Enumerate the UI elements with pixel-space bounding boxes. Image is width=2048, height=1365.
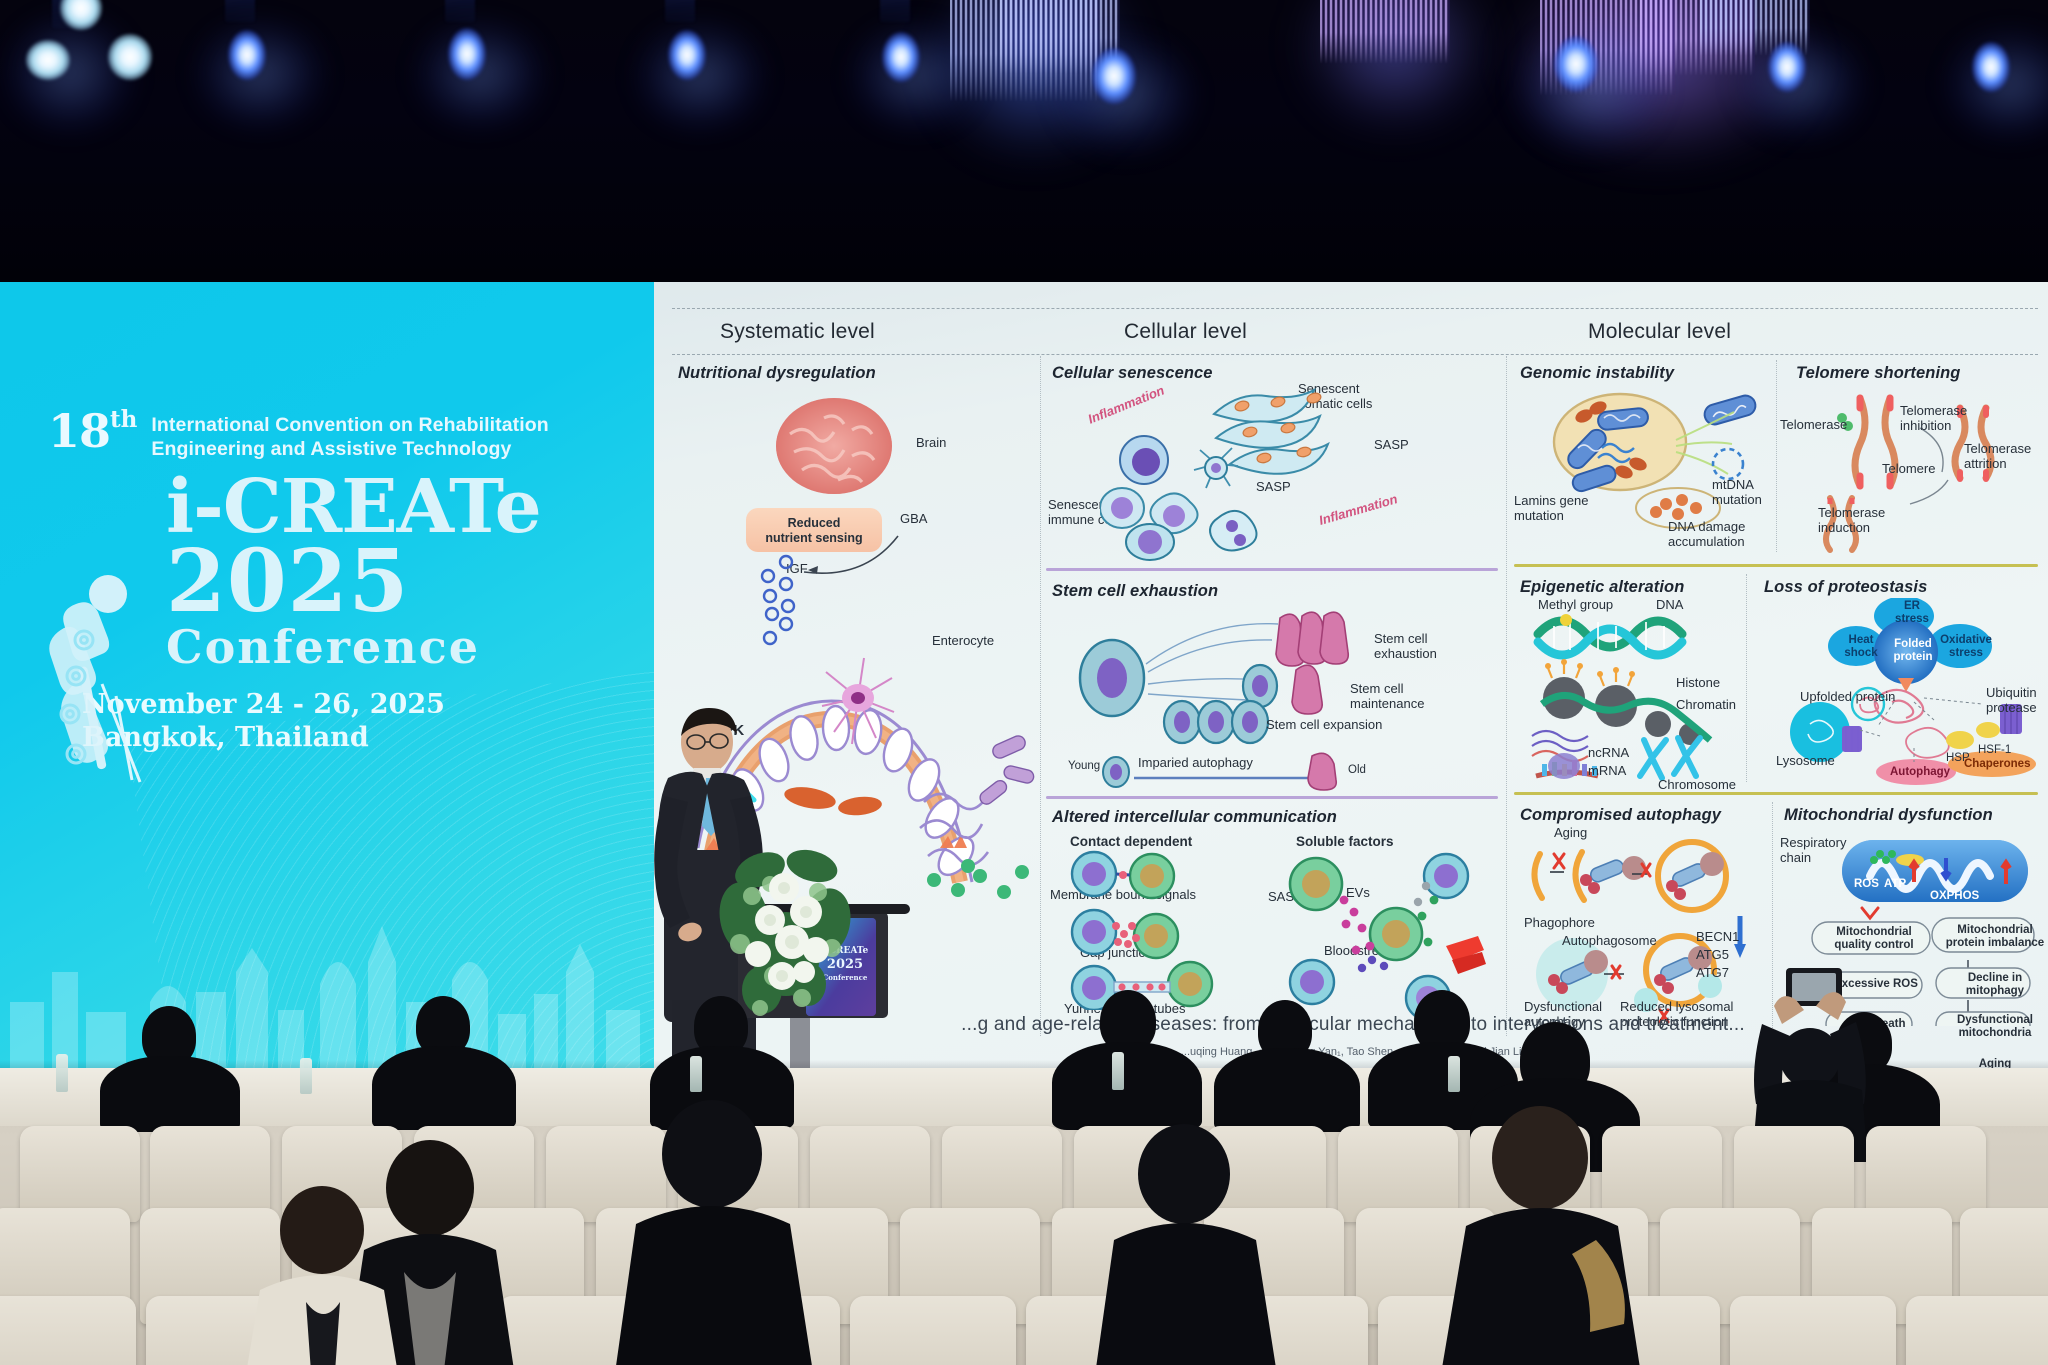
ceiling-lighting-rig: [0, 0, 2048, 282]
bangkok-skyline-icon: [0, 852, 654, 1082]
label-contact-dependent: Contact dependent: [1070, 834, 1192, 849]
panel-title-mitochondrial-dysfunction: Mitochondrial dysfunction: [1784, 806, 1993, 825]
panel-title-compromised-autophagy: Compromised autophagy: [1520, 806, 1721, 825]
column-divider-2: [1506, 356, 1507, 1036]
label-atp: ATP: [1884, 878, 1906, 891]
label-mitochondrial-protein-imbalance: Mitochondrial protein imbalance: [1934, 924, 2048, 950]
banner-subtitle-line2: Engineering and Assistive Technology: [151, 438, 548, 462]
label-becn1: BECN1: [1696, 930, 1739, 945]
senescent-immune-cells-illustration: [1100, 434, 1290, 562]
label-hsf-1: HSF-1: [1978, 744, 2011, 757]
label-chromatin: Chromatin: [1676, 698, 1736, 713]
panel-divider-molecular-2: [1514, 792, 2038, 795]
chair: [0, 1296, 136, 1365]
label-telomerase-attrition: Telomerase attrition: [1964, 442, 2031, 472]
label-inflammation-2: Inflammation: [1318, 492, 1400, 529]
panel-divider-cellular-1: [1046, 568, 1498, 571]
spotlight-7: [882, 32, 920, 82]
label-brain: Brain: [916, 436, 946, 451]
edition-number-suffix: th: [110, 406, 137, 433]
label-chaperones: Chaperones: [1964, 758, 2030, 771]
spotlight-3: [108, 34, 152, 80]
truss-bar-4: [665, 0, 695, 22]
label-respiratory-chain: Respiratory chain: [1780, 836, 1846, 866]
audience-silhouette-with-scarf: [1420, 1106, 1680, 1365]
label-heat-shock: Heat shock: [1838, 634, 1884, 660]
label-soluble-factors: Soluble factors: [1296, 834, 1394, 849]
slide-column-headers: Systematic level Cellular level Molecula…: [668, 302, 2038, 346]
audience-silhouette: [232, 1186, 412, 1365]
panel-title-nutritional-dysregulation: Nutritional dysregulation: [678, 364, 876, 383]
label-stem-cell-maintenance: Stem cell maintenance: [1350, 682, 1424, 712]
banner-brand: i-CREATe 2025 Conference: [166, 472, 608, 671]
panel-title-cellular-senescence: Cellular senescence: [1052, 364, 1213, 383]
truss-bar-5: [880, 0, 910, 22]
label-phagophore: Phagophore: [1524, 916, 1595, 931]
label-oxphos: OXPHOS: [1930, 890, 1979, 903]
truss-bar-3: [445, 0, 475, 22]
panel-title-altered-intercellular-communication: Altered intercellular communication: [1052, 808, 1337, 827]
podium-flower-arrangement: [700, 826, 890, 1016]
label-ubiquitin-protease: Ubiquitin protease: [1986, 686, 2037, 716]
person-with-exoskeleton-and-cane-icon: [36, 568, 156, 803]
epigenetic-alteration-illustration: [1526, 598, 1742, 784]
panel-divider-cellular-2: [1046, 796, 1498, 799]
label-mitochondrial-quality-control: Mitochondrial quality control: [1814, 926, 1934, 952]
edition-number: 18 th: [48, 410, 137, 454]
spotlight-11: [1972, 42, 2010, 92]
label-atg5: ATG5: [1696, 948, 1729, 963]
brand-line-3: Conference: [166, 623, 608, 671]
conference-banner: 18 th International Convention on Rehabi…: [0, 282, 654, 1082]
panel-title-telomere-shortening: Telomere shortening: [1796, 364, 1960, 383]
audience-silhouette: [1080, 1124, 1290, 1365]
edition-number-value: 18: [48, 410, 110, 454]
banner-location: Bangkok, Thailand: [82, 722, 608, 755]
label-autophagy: Autophagy: [1890, 766, 1950, 779]
label-telomere: Telomere: [1882, 462, 1935, 477]
label-stem-cell-expansion: Stem cell expansion: [1266, 718, 1382, 733]
spot-halo-0: [10, 18, 130, 128]
banner-subtitle-line1: International Convention on Rehabilitati…: [151, 414, 548, 438]
light-curtain-3: [1320, 0, 1450, 64]
column-header-systematic: Systematic level: [720, 320, 875, 344]
label-gba: GBA: [900, 512, 927, 527]
label-telomerase-inhibition: Telomerase inhibition: [1900, 404, 1967, 434]
audience-silhouette: [600, 1100, 830, 1365]
slide-header-rule: [672, 354, 2038, 355]
spotlight-10: [1768, 42, 1806, 92]
audience-area: [0, 1082, 2048, 1365]
chair: [850, 1296, 1016, 1365]
label-aging-autophagy: Aging: [1554, 826, 1587, 841]
label-old: Old: [1348, 764, 1366, 777]
stem-cell-illustration: [1064, 602, 1384, 762]
label-folded-protein: Folded protein: [1886, 638, 1940, 664]
truss-bar-2: [225, 0, 255, 22]
label-lysosome: Lysosome: [1776, 754, 1835, 769]
label-lamins-gene-mutation: Lamins gene mutation: [1514, 494, 1588, 524]
spotlight-9: [1554, 36, 1598, 92]
label-stem-cell-exhaustion: Stem cell exhaustion: [1374, 632, 1437, 662]
label-mrna: mRNA: [1588, 764, 1626, 779]
spotlight-4: [228, 30, 266, 80]
label-methyl-group: Methyl group: [1538, 598, 1613, 613]
label-young: Young: [1068, 760, 1100, 773]
banner-date-location: November 24 - 26, 2025 Bangkok, Thailand: [82, 689, 608, 755]
panel-title-genomic-instability: Genomic instability: [1520, 364, 1674, 383]
label-upfolded-protein: Upfolded protein: [1800, 690, 1895, 705]
panel-title-epigenetic-alteration: Epigenetic alteration: [1520, 578, 1684, 597]
label-ncrna: ncRNA: [1588, 746, 1629, 761]
label-telomerase-1: Telomerase: [1780, 418, 1847, 433]
foreground-audience-2: [600, 1100, 830, 1365]
gut-microbiota-illustration: [918, 706, 1048, 906]
foreground-audience-3: [1080, 1124, 1290, 1365]
brand-line-2: 2025: [166, 542, 608, 623]
column-header-cellular: Cellular level: [1124, 320, 1247, 344]
spotlight-1: [26, 40, 70, 80]
column-header-molecular: Molecular level: [1588, 320, 1731, 344]
label-dna-damage-accumulation: DNA damage accumulation: [1668, 520, 1745, 550]
label-ros: ROS: [1854, 878, 1879, 891]
label-decline-in-mitophagy: Decline in mitophagy: [1938, 972, 2048, 998]
spotlight-6: [668, 30, 706, 80]
panel-divider-molecular-1: [1514, 564, 2038, 567]
molecular-divider-top: [1776, 360, 1777, 552]
chair: [1730, 1296, 1896, 1365]
label-telomerase-induction: Telomerase induction: [1818, 506, 1885, 536]
label-histone: Histone: [1676, 676, 1720, 691]
panel-title-loss-of-proteostasis: Loss of proteostasis: [1764, 578, 1927, 597]
label-enterocyte: Enterocyte: [932, 634, 994, 649]
young-old-cells-icon: [1100, 750, 1340, 792]
label-mtdna-mutation: mtDNA mutation: [1712, 478, 1762, 508]
label-inflammation-1: Inflammation: [1086, 383, 1167, 427]
label-oxidative-stress: Oxidative stress: [1938, 634, 1994, 660]
label-sasp-1: SASP: [1374, 438, 1409, 453]
label-er-stress: ER stress: [1890, 600, 1934, 626]
foreground-audience-5: [232, 1186, 412, 1365]
label-chromosome: Chromosome: [1658, 778, 1736, 793]
spotlight-5: [448, 28, 486, 80]
banner-heading-row: 18 th International Convention on Rehabi…: [48, 410, 608, 462]
banner-date: November 24 - 26, 2025: [82, 689, 608, 722]
banner-subtitle: International Convention on Rehabilitati…: [151, 414, 548, 462]
foreground-audience-4: [1420, 1106, 1680, 1365]
label-dna: DNA: [1656, 598, 1683, 613]
spotlight-8: [1092, 48, 1136, 104]
molecular-divider-mid: [1746, 574, 1747, 782]
panel-title-stem-cell-exhaustion: Stem cell exhaustion: [1052, 582, 1218, 601]
brain-illustration: [768, 390, 908, 500]
label-autophagosome: Autophagosome: [1562, 934, 1657, 949]
chair: [1906, 1296, 2048, 1365]
column-divider-1: [1040, 356, 1041, 1036]
conference-photo: 18 th International Convention on Rehabi…: [0, 0, 2048, 1365]
cell-communication-illustration: [1060, 850, 1240, 1010]
